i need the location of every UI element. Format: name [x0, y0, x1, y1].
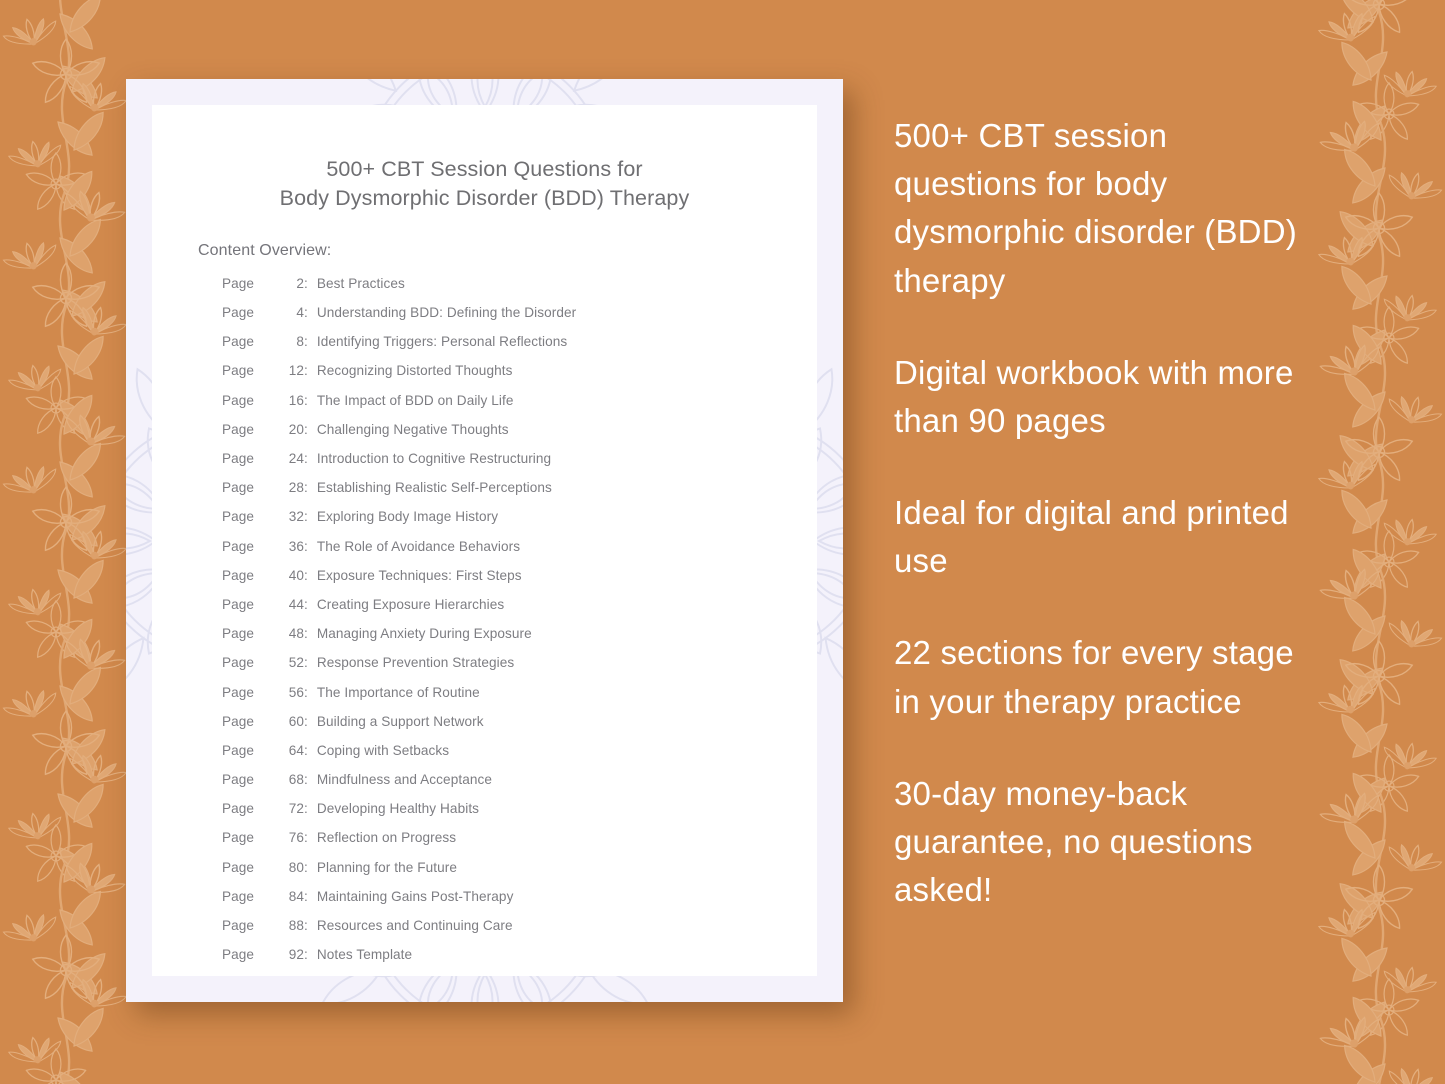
toc-entry: Page88:Resources and Continuing Care [152, 918, 817, 947]
toc-colon: : [304, 655, 317, 670]
toc-page-word: Page [222, 422, 278, 437]
toc-page-number: 92 [278, 947, 304, 962]
toc-page-number: 32 [278, 509, 304, 524]
toc-page-word: Page [222, 801, 278, 816]
toc-colon: : [304, 860, 317, 875]
table-of-contents: Page2:Best PracticesPage4:Understanding … [152, 260, 817, 977]
toc-colon: : [304, 393, 317, 408]
toc-entry: Page8:Identifying Triggers: Personal Ref… [152, 334, 817, 363]
toc-entry-title: Mindfulness and Acceptance [317, 772, 817, 787]
toc-colon: : [304, 772, 317, 787]
toc-entry: Page92:Notes Template [152, 947, 817, 976]
toc-page-word: Page [222, 772, 278, 787]
toc-page-number: 20 [278, 422, 304, 437]
page-title: 500+ CBT Session Questions for Body Dysm… [152, 105, 817, 214]
toc-page-number: 76 [278, 830, 304, 845]
toc-page-word: Page [222, 918, 278, 933]
toc-colon: : [304, 889, 317, 904]
toc-page-number: 4 [278, 305, 304, 320]
toc-entry-title: Creating Exposure Hierarchies [317, 597, 817, 612]
toc-entry-title: Challenging Negative Thoughts [317, 422, 817, 437]
toc-colon: : [304, 276, 317, 291]
toc-entry: Page44:Creating Exposure Hierarchies [152, 597, 817, 626]
toc-entry: Page56:The Importance of Routine [152, 685, 817, 714]
toc-entry: Page24:Introduction to Cognitive Restruc… [152, 451, 817, 480]
marketing-bullet-list: 500+ CBT session questions for body dysm… [894, 112, 1314, 914]
toc-entry-title: Resources and Continuing Care [317, 918, 817, 933]
toc-page-word: Page [222, 568, 278, 583]
toc-page-number: 12 [278, 363, 304, 378]
toc-entry: Page68:Mindfulness and Acceptance [152, 772, 817, 801]
toc-page-number: 36 [278, 539, 304, 554]
product-listing-image: 500+ CBT Session Questions for Body Dysm… [0, 0, 1445, 1084]
marketing-bullet: Digital workbook with more than 90 pages [894, 349, 1314, 445]
toc-entry-title: Best Practices [317, 276, 817, 291]
marketing-bullet: 500+ CBT session questions for body dysm… [894, 112, 1314, 305]
toc-page-word: Page [222, 685, 278, 700]
toc-entry-title: Reflection on Progress [317, 830, 817, 845]
page-title-line-2: Body Dysmorphic Disorder (BDD) Therapy [192, 184, 777, 213]
toc-entry: Page64:Coping with Setbacks [152, 743, 817, 772]
toc-entry-title: Managing Anxiety During Exposure [317, 626, 817, 641]
toc-entry-title: Exposure Techniques: First Steps [317, 568, 817, 583]
toc-colon: : [304, 626, 317, 641]
toc-page-word: Page [222, 539, 278, 554]
toc-page-word: Page [222, 947, 278, 962]
toc-page-word: Page [222, 334, 278, 349]
toc-page-number: 2 [278, 276, 304, 291]
toc-entry: Page12:Recognizing Distorted Thoughts [152, 363, 817, 392]
toc-colon: : [304, 714, 317, 729]
workbook-page: 500+ CBT Session Questions for Body Dysm… [152, 105, 817, 976]
toc-colon: : [304, 363, 317, 378]
toc-page-number: 68 [278, 772, 304, 787]
toc-page-number: 28 [278, 480, 304, 495]
toc-page-word: Page [222, 363, 278, 378]
toc-entry: Page16:The Impact of BDD on Daily Life [152, 393, 817, 422]
toc-page-word: Page [222, 655, 278, 670]
toc-page-number: 72 [278, 801, 304, 816]
toc-colon: : [304, 305, 317, 320]
toc-entry: Page32:Exploring Body Image History [152, 509, 817, 538]
toc-page-number: 24 [278, 451, 304, 466]
toc-entry-title: Identifying Triggers: Personal Reflectio… [317, 334, 817, 349]
floral-border-right-icon [1311, 0, 1445, 1084]
marketing-bullet: 22 sections for every stage in your ther… [894, 629, 1314, 725]
toc-entry-title: Response Prevention Strategies [317, 655, 817, 670]
toc-entry: Page60:Building a Support Network [152, 714, 817, 743]
toc-page-number: 80 [278, 860, 304, 875]
toc-entry-title: Establishing Realistic Self-Perceptions [317, 480, 817, 495]
toc-entry: Page36:The Role of Avoidance Behaviors [152, 539, 817, 568]
toc-page-number: 52 [278, 655, 304, 670]
toc-page-number: 60 [278, 714, 304, 729]
toc-page-word: Page [222, 276, 278, 291]
toc-entry: Page76:Reflection on Progress [152, 830, 817, 859]
toc-entry-title: Exploring Body Image History [317, 509, 817, 524]
toc-entry: Page84:Maintaining Gains Post-Therapy [152, 889, 817, 918]
toc-colon: : [304, 597, 317, 612]
toc-page-word: Page [222, 451, 278, 466]
toc-colon: : [304, 509, 317, 524]
toc-entry: Page4:Understanding BDD: Defining the Di… [152, 305, 817, 334]
toc-entry-title: Maintaining Gains Post-Therapy [317, 889, 817, 904]
toc-page-word: Page [222, 597, 278, 612]
toc-entry: Page20:Challenging Negative Thoughts [152, 422, 817, 451]
toc-colon: : [304, 743, 317, 758]
content-overview-label: Content Overview: [152, 214, 817, 260]
toc-colon: : [304, 801, 317, 816]
toc-entry-title: Understanding BDD: Defining the Disorder [317, 305, 817, 320]
page-title-line-1: 500+ CBT Session Questions for [192, 155, 777, 184]
marketing-bullet: Ideal for digital and printed use [894, 489, 1314, 585]
toc-entry: Page2:Best Practices [152, 276, 817, 305]
workbook-preview-card: 500+ CBT Session Questions for Body Dysm… [126, 79, 843, 1002]
toc-page-word: Page [222, 393, 278, 408]
toc-page-word: Page [222, 830, 278, 845]
toc-entry: Page28:Establishing Realistic Self-Perce… [152, 480, 817, 509]
toc-colon: : [304, 451, 317, 466]
toc-page-number: 88 [278, 918, 304, 933]
toc-entry: Page80:Planning for the Future [152, 860, 817, 889]
marketing-bullet: 30-day money-back guarantee, no question… [894, 770, 1314, 915]
toc-page-word: Page [222, 305, 278, 320]
toc-colon: : [304, 568, 317, 583]
toc-entry-title: Introduction to Cognitive Restructuring [317, 451, 817, 466]
toc-entry-title: Notes Template [317, 947, 817, 962]
toc-page-number: 8 [278, 334, 304, 349]
toc-page-number: 84 [278, 889, 304, 904]
toc-page-number: 48 [278, 626, 304, 641]
toc-entry-title: Recognizing Distorted Thoughts [317, 363, 817, 378]
toc-entry: Page52:Response Prevention Strategies [152, 655, 817, 684]
toc-colon: : [304, 334, 317, 349]
toc-entry-title: Planning for the Future [317, 860, 817, 875]
toc-colon: : [304, 830, 317, 845]
toc-page-word: Page [222, 480, 278, 495]
toc-page-word: Page [222, 743, 278, 758]
toc-entry: Page72:Developing Healthy Habits [152, 801, 817, 830]
toc-colon: : [304, 480, 317, 495]
toc-entry-title: The Importance of Routine [317, 685, 817, 700]
toc-page-number: 40 [278, 568, 304, 583]
toc-page-word: Page [222, 509, 278, 524]
toc-page-word: Page [222, 889, 278, 904]
toc-colon: : [304, 539, 317, 554]
toc-entry: Page48:Managing Anxiety During Exposure [152, 626, 817, 655]
toc-page-number: 64 [278, 743, 304, 758]
toc-entry-title: Coping with Setbacks [317, 743, 817, 758]
toc-colon: : [304, 947, 317, 962]
toc-colon: : [304, 685, 317, 700]
toc-entry-title: Developing Healthy Habits [317, 801, 817, 816]
toc-entry-title: Building a Support Network [317, 714, 817, 729]
floral-border-left-icon [0, 0, 134, 1084]
toc-page-number: 16 [278, 393, 304, 408]
toc-colon: : [304, 918, 317, 933]
toc-page-word: Page [222, 626, 278, 641]
toc-entry-title: The Role of Avoidance Behaviors [317, 539, 817, 554]
toc-page-number: 56 [278, 685, 304, 700]
toc-colon: : [304, 422, 317, 437]
toc-entry: Page40:Exposure Techniques: First Steps [152, 568, 817, 597]
toc-page-word: Page [222, 714, 278, 729]
toc-page-number: 44 [278, 597, 304, 612]
toc-page-word: Page [222, 860, 278, 875]
toc-entry-title: The Impact of BDD on Daily Life [317, 393, 817, 408]
